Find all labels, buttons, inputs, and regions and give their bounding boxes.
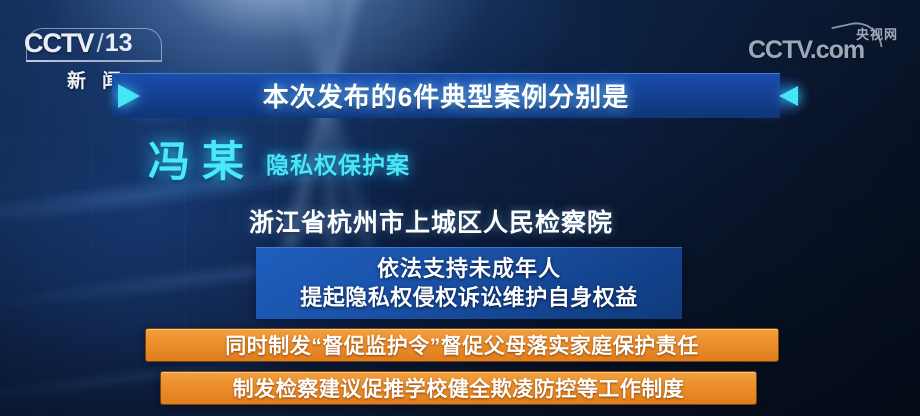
headline-title: 本次发布的6件典型案例分别是: [112, 73, 780, 118]
highlight-bar-2: 制发检察建议促推学校健全欺凌防控等工作制度: [160, 371, 757, 405]
play-arrow-left-icon: [779, 86, 798, 106]
cctv-com-cn-label: 央视网: [856, 24, 898, 43]
statement-line-1: 依法支持未成年人: [377, 254, 561, 283]
cctv-wordmark: CCTV: [24, 28, 94, 59]
statement-box: 依法支持未成年人 提起隐私权侵权诉讼维护自身权益: [256, 247, 682, 319]
cctv13-logo-row: CCTV / 13: [24, 26, 164, 60]
party-name: 冯某: [148, 141, 256, 183]
highlight-bar-2-text: 制发检察建议促推学校健全欺凌防控等工作制度: [233, 373, 685, 403]
cctv-logo-slash: /: [97, 28, 104, 59]
statement-line-2: 提起隐私权侵权诉讼维护自身权益: [300, 283, 638, 312]
cctv13-subtitle-char-1: 新: [67, 66, 86, 93]
broadcast-graphic-frame: CCTV / 13 新 闻 CCTV.com 央视网 本次发布的6件典型案例分别…: [0, 0, 920, 416]
case-type-label: 隐私权保护案: [266, 146, 410, 183]
highlight-bar-1-text: 同时制发“督促监护令”督促父母落实家庭保护责任: [225, 330, 699, 360]
cctv-channel-number: 13: [105, 29, 133, 58]
highlight-bar-1: 同时制发“督促监护令”督促父母落实家庭保护责任: [145, 328, 779, 362]
case-name-row: 冯某 隐私权保护案: [148, 131, 410, 183]
institution-name: 浙江省杭州市上城区人民检察院: [249, 203, 613, 239]
